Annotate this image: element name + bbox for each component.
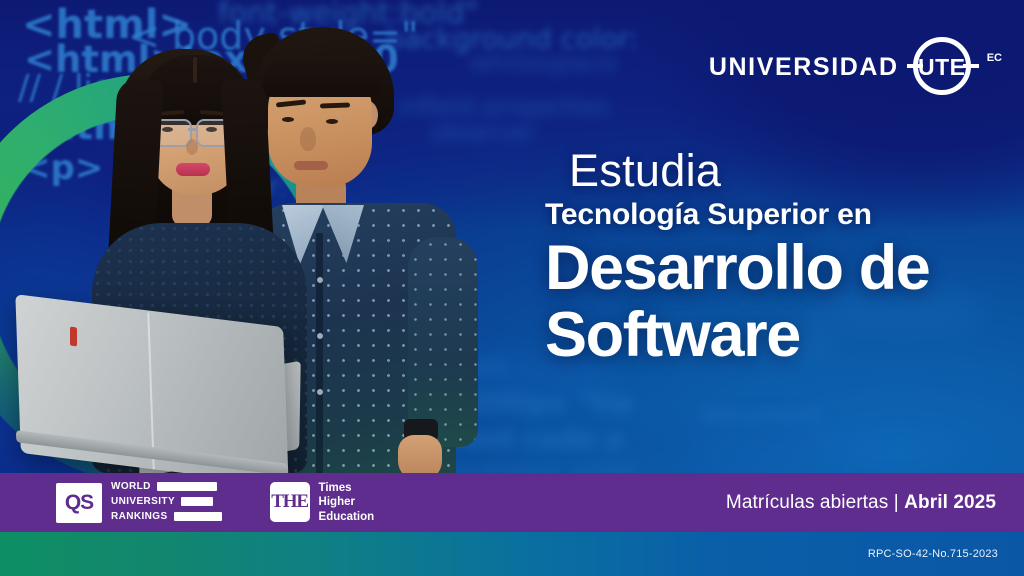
ute-logo-letters: UTE — [907, 36, 977, 98]
man-arm-pattern — [408, 237, 478, 447]
the-logo-mark: THE — [270, 482, 310, 522]
enrollment-notice: Matrículas abiertas | Abril 2025 — [726, 492, 996, 514]
man-eye-left — [282, 117, 294, 122]
man-shirt-placket — [316, 233, 323, 483]
headline-title-line2: Software — [545, 305, 1000, 365]
code-text: document — [700, 400, 821, 428]
ute-logo[interactable]: UNIVERSIDAD UTE EC — [709, 36, 1002, 98]
ute-logo-country-code: EC — [987, 52, 1002, 64]
qs-logo-mark: QS — [56, 483, 102, 523]
woman-hair-part — [193, 57, 197, 83]
qs-logo-line: UNIVERSITY — [111, 495, 222, 507]
the-logo-line: Higher — [319, 495, 375, 509]
ute-logo-mark: UTE — [907, 36, 977, 98]
enrollment-label: Matrículas abiertas — [726, 492, 888, 513]
woman-mouth — [176, 163, 210, 176]
the-logo-line: Education — [319, 510, 375, 524]
man-mouth — [294, 161, 328, 170]
headline-title-line1: Desarrollo de — [545, 238, 1000, 298]
the-logo-text: Times Higher Education — [319, 481, 375, 523]
headline-block: Estudia Tecnología Superior en Desarroll… — [545, 148, 1000, 366]
enrollment-separator: | — [894, 492, 899, 513]
laptop-brand-logo — [70, 326, 77, 346]
man-shirt-button — [317, 277, 323, 283]
woman-nose — [186, 139, 198, 155]
code-text: whitespace — [470, 48, 617, 78]
qs-logo-text: WORLD UNIVERSITY RANKINGS — [111, 480, 222, 525]
man-fringe — [262, 57, 380, 97]
times-higher-education-logo[interactable]: THE Times Higher Education — [270, 481, 375, 523]
students-photo — [0, 27, 470, 532]
resolution-code: RPC-SO-42-No.715-2023 — [868, 548, 998, 560]
qs-logo-line-text: WORLD — [111, 481, 151, 492]
accreditation-bar: QS WORLD UNIVERSITY RANKINGS THE Time — [0, 473, 1024, 532]
man-shirt-button — [317, 333, 323, 339]
qs-logo-line: RANKINGS — [111, 510, 222, 522]
man-eye-right — [326, 119, 338, 124]
woman-eyeglasses-bridge — [188, 128, 198, 131]
enrollment-date: Abril 2025 — [904, 492, 996, 513]
man-nose — [300, 127, 316, 151]
qs-logo-line-text: UNIVERSITY — [111, 496, 175, 507]
qs-logo-bar — [174, 512, 222, 521]
qs-rankings-logo[interactable]: QS WORLD UNIVERSITY RANKINGS — [56, 480, 222, 525]
man-shirt-button — [317, 389, 323, 395]
code-text: 200px "tia — [470, 386, 633, 419]
qs-logo-line: WORLD — [111, 480, 222, 492]
headline-eyebrow: Estudia — [569, 148, 1000, 193]
promotional-banner: <html> < body style=" font-weight:bold" … — [0, 0, 1024, 576]
ute-logo-word: UNIVERSIDAD — [709, 53, 899, 82]
qs-logo-bar — [181, 497, 213, 506]
qs-logo-bar — [157, 482, 217, 491]
qs-logo-line-text: RANKINGS — [111, 511, 168, 522]
the-logo-line: Times — [319, 481, 375, 495]
headline-subtitle: Tecnología Superior en — [545, 199, 1000, 231]
